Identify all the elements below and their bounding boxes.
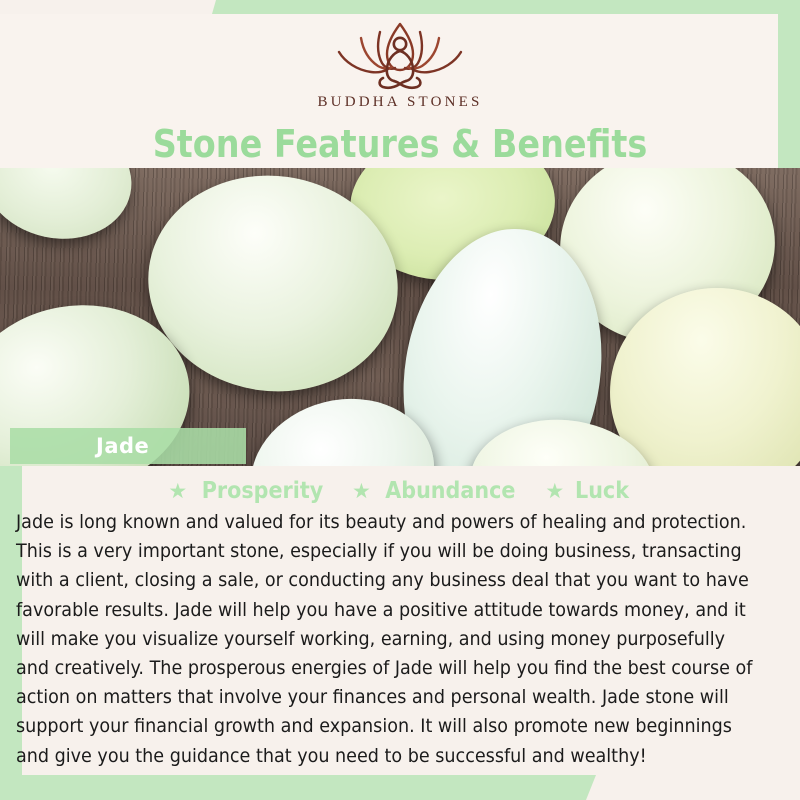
description-text: Jade is long known and valued for its be… — [16, 508, 753, 771]
benefit-item-prosperity: ★ Prosperity — [168, 478, 329, 504]
decor-green-bottom-band — [0, 775, 596, 800]
star-icon: ★ — [168, 481, 187, 502]
benefit-label: Prosperity — [201, 478, 322, 504]
brand-logo: BUDDHA STONES — [0, 18, 800, 111]
benefit-item-luck: ★ Luck — [545, 478, 631, 504]
stone-name-label: Jade — [96, 434, 149, 458]
star-icon: ★ — [352, 481, 371, 502]
lotus-meditation-icon — [325, 18, 475, 90]
stone-photo: Jade — [0, 168, 800, 466]
stone-name-badge: Jade — [10, 428, 246, 464]
benefit-label: Luck — [575, 478, 629, 504]
benefits-row: ★ Prosperity ★ Abundance ★ Luck — [0, 478, 800, 504]
page-title-text: Stone Features & Benefits — [153, 122, 648, 166]
page-title: Stone Features & Benefits — [0, 122, 800, 166]
decor-green-top-band — [212, 0, 800, 14]
brand-wordmark: BUDDHA STONES — [0, 94, 800, 111]
star-icon: ★ — [545, 481, 564, 502]
benefit-item-abundance: ★ Abundance — [352, 478, 523, 504]
poster-canvas: BUDDHA STONES Stone Features & Benefits … — [0, 0, 800, 800]
benefit-label: Abundance — [386, 478, 516, 504]
